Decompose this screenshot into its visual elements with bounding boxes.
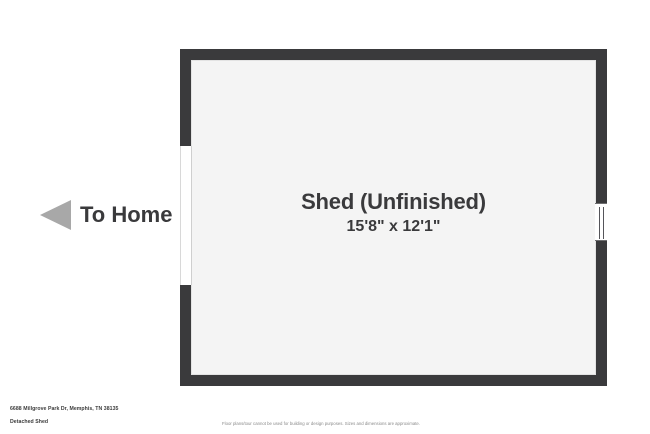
footer-address: 6688 Millgrove Park Dr, Memphis, TN 3813… xyxy=(10,403,118,416)
room-name: Shed (Unfinished) xyxy=(190,188,597,216)
footer-left: 6688 Millgrove Park Dr, Memphis, TN 3813… xyxy=(10,403,118,429)
to-home-marker[interactable]: To Home xyxy=(40,200,172,230)
floorplan-canvas: Shed (Unfinished) 15'8" x 12'1" To Home … xyxy=(0,0,650,434)
triangle-left-icon[interactable] xyxy=(40,200,71,230)
to-home-label: To Home xyxy=(80,200,172,230)
footer-disclaimer: Floor plans/tour cannot be used for buil… xyxy=(222,420,420,428)
room-dimensions: 15'8" x 12'1" xyxy=(190,216,597,238)
footer-subtitle: Detached Shed xyxy=(10,416,118,429)
room-label: Shed (Unfinished) 15'8" x 12'1" xyxy=(190,188,597,238)
